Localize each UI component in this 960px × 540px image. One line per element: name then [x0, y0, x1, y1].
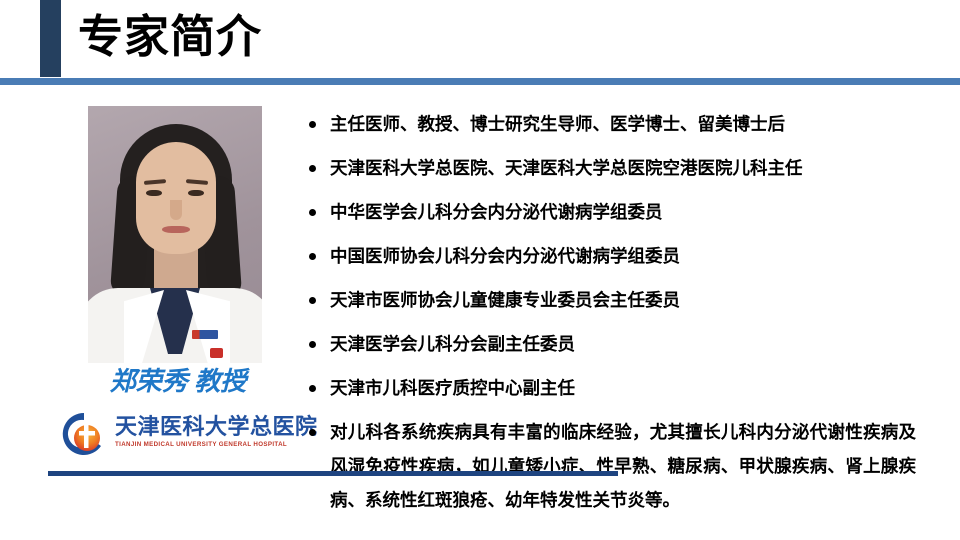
hospital-logo: 天津医科大学总医院 TIANJIN MEDICAL UNIVERSITY GEN…	[60, 408, 300, 460]
bullet-dot-icon	[309, 253, 316, 260]
doctor-portrait-photo	[88, 106, 262, 363]
portrait-eye-right	[188, 190, 204, 196]
hospital-name-chinese: 天津医科大学总医院	[115, 414, 300, 439]
bullet-dot-icon	[309, 121, 316, 128]
page-title: 专家简介	[78, 8, 262, 66]
portrait-nose	[170, 200, 182, 220]
bullet-dot-icon	[309, 209, 316, 216]
list-item: 天津医学会儿科分会副主任委员	[306, 327, 916, 361]
portrait-coat-badge	[210, 348, 223, 358]
header-divider	[0, 78, 960, 85]
list-item: 中国医师协会儿科分会内分泌代谢病学组委员	[306, 239, 916, 273]
hospital-name-english: TIANJIN MEDICAL UNIVERSITY GENERAL HOSPI…	[115, 440, 300, 449]
portrait-coat-logo	[192, 330, 218, 339]
list-item: 天津医科大学总医院、天津医科大学总医院空港医院儿科主任	[306, 151, 916, 185]
doctor-name-caption: 郑荣秀 教授	[88, 366, 268, 398]
bullet-dot-icon	[309, 297, 316, 304]
bullet-dot-icon	[309, 429, 316, 436]
list-item-text: 对儿科各系统疾病具有丰富的临床经验，尤其擅长儿科内分泌代谢性疾病及风湿免疫性疾病…	[330, 415, 916, 517]
list-item: 天津市医师协会儿童健康专业委员会主任委员	[306, 283, 916, 317]
portrait-face	[136, 142, 216, 254]
list-item-text: 中国医师协会儿科分会内分泌代谢病学组委员	[330, 239, 916, 273]
bullet-dot-icon	[309, 165, 316, 172]
footer-divider	[48, 471, 618, 476]
credentials-list: 主任医师、教授、博士研究生导师、医学博士、留美博士后 天津医科大学总医院、天津医…	[306, 107, 916, 517]
bullet-dot-icon	[309, 385, 316, 392]
list-item-text: 天津医科大学总医院、天津医科大学总医院空港医院儿科主任	[330, 151, 916, 185]
title-accent-bar	[40, 0, 61, 77]
list-item-text: 中华医学会儿科分会内分泌代谢病学组委员	[330, 195, 916, 229]
list-item: 主任医师、教授、博士研究生导师、医学博士、留美博士后	[306, 107, 916, 141]
list-item: 天津市儿科医疗质控中心副主任	[306, 371, 916, 405]
list-item-text: 主任医师、教授、博士研究生导师、医学博士、留美博士后	[330, 107, 916, 141]
list-item: 对儿科各系统疾病具有丰富的临床经验，尤其擅长儿科内分泌代谢性疾病及风湿免疫性疾病…	[306, 415, 916, 517]
hospital-logo-text: 天津医科大学总医院 TIANJIN MEDICAL UNIVERSITY GEN…	[115, 414, 300, 449]
bullet-dot-icon	[309, 341, 316, 348]
list-item-text: 天津医学会儿科分会副主任委员	[330, 327, 916, 361]
hospital-logo-mark	[60, 410, 108, 458]
slide-root: 专家简介 郑荣秀 教授	[0, 0, 960, 540]
list-item-text: 天津市医师协会儿童健康专业委员会主任委员	[330, 283, 916, 317]
list-item-text: 天津市儿科医疗质控中心副主任	[330, 371, 916, 405]
list-item: 中华医学会儿科分会内分泌代谢病学组委员	[306, 195, 916, 229]
portrait-eye-left	[146, 190, 162, 196]
portrait-mouth	[162, 226, 190, 233]
